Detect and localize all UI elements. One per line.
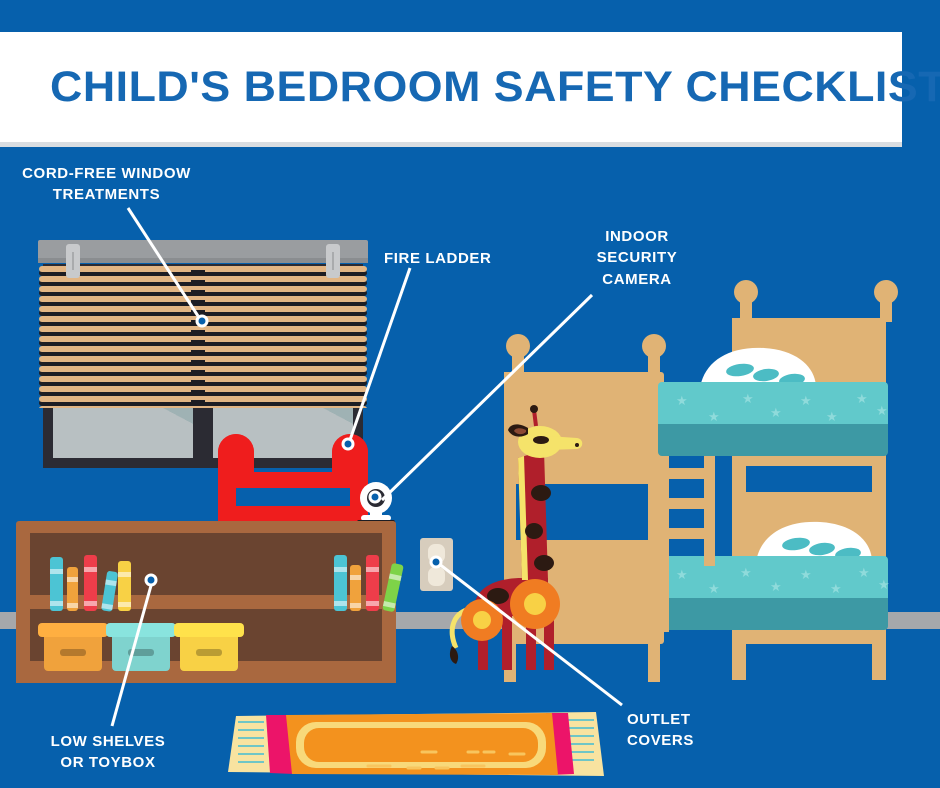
bunk-ladder-rail-left — [658, 456, 669, 632]
book — [350, 565, 361, 611]
infographic-poster: CHILD'S BEDROOM SAFETY CHECKLIST — [0, 0, 940, 788]
mattress-star: ★ — [856, 392, 868, 405]
storage-bin-handle — [60, 649, 86, 656]
mattress-star: ★ — [676, 568, 688, 581]
book — [334, 555, 347, 611]
mattress-star: ★ — [676, 394, 688, 407]
book — [50, 557, 63, 611]
book — [382, 563, 404, 612]
ladder-rung — [232, 506, 354, 522]
storage-bin — [44, 623, 102, 671]
mattress-star: ★ — [858, 566, 870, 579]
bracket-slit — [332, 252, 334, 270]
storage-bin-handle — [128, 649, 154, 656]
book — [118, 561, 131, 611]
books-group-right — [332, 553, 412, 611]
floor-rug — [222, 706, 610, 782]
title-banner-shadow — [0, 142, 902, 147]
book — [101, 571, 118, 612]
mattress-star: ★ — [826, 410, 838, 423]
mattress-lower-base — [658, 598, 888, 630]
callout-label-fire-ladder: FIRE LADDER — [384, 248, 491, 269]
outlet-socket-top — [428, 544, 445, 563]
mattress-star: ★ — [708, 582, 720, 595]
book — [84, 555, 97, 611]
storage-bin-handle — [196, 649, 222, 656]
book — [67, 567, 78, 611]
callout-label-indoor-security-camera: INDOOR SECURITY CAMERA — [582, 226, 692, 290]
mattress-star: ★ — [830, 582, 842, 595]
bunk-ladder-rail-right — [704, 456, 715, 566]
ladder-rung — [232, 472, 354, 488]
valance-bracket-left — [66, 244, 80, 278]
mattress-star: ★ — [770, 406, 782, 419]
mattress-star: ★ — [740, 566, 752, 579]
window-valance-shadow — [38, 258, 368, 263]
valance-bracket-right — [326, 244, 340, 278]
cord-free-blinds — [39, 266, 367, 408]
mattress-star: ★ — [708, 410, 720, 423]
blind-slat-joint — [191, 266, 205, 408]
books-group-left — [46, 553, 166, 611]
storage-bin-lid — [106, 623, 176, 637]
outlet-socket-bottom — [428, 567, 445, 586]
bunk-ladder-step — [658, 498, 704, 509]
storage-bin-lid — [38, 623, 108, 637]
indoor-security-camera — [357, 482, 395, 524]
callout-label-outlet-covers: OUTLET COVERS — [627, 709, 694, 752]
mattress-star: ★ — [800, 394, 812, 407]
mattress-star: ★ — [770, 580, 782, 593]
mattress-upper-base — [658, 424, 888, 456]
callout-label-cord-free-window-treatments: CORD-FREE WINDOW TREATMENTS — [14, 163, 199, 206]
page-title: CHILD'S BEDROOM SAFETY CHECKLIST — [50, 63, 940, 112]
mattress-star: ★ — [742, 392, 754, 405]
fire-escape-ladder — [218, 434, 368, 534]
bunk-ladder-step — [658, 468, 704, 479]
giraffe-pull-toy — [444, 398, 594, 670]
bunk-ladder-step — [658, 528, 704, 539]
callout-label-low-shelves-or-toybox: LOW SHELVES OR TOYBOX — [38, 731, 178, 774]
low-bookshelf — [16, 521, 396, 683]
bracket-slit — [72, 252, 74, 270]
mattress-star: ★ — [876, 404, 888, 417]
book — [366, 555, 379, 611]
title-banner: CHILD'S BEDROOM SAFETY CHECKLIST — [0, 32, 902, 142]
storage-bin — [180, 623, 238, 671]
storage-bin-lid — [174, 623, 244, 637]
camera-lens-icon — [367, 489, 385, 507]
mattress-star: ★ — [800, 568, 812, 581]
mattress-star: ★ — [878, 578, 890, 591]
storage-bin — [112, 623, 170, 671]
